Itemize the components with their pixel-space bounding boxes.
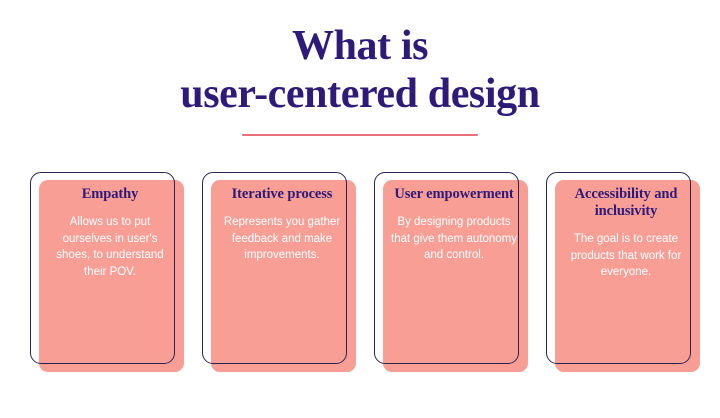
page-title-line-2: user-centered design bbox=[0, 70, 720, 118]
card-content: Empathy Allows us to put ourselves in us… bbox=[38, 172, 183, 364]
concept-card-row: Empathy Allows us to put ourselves in us… bbox=[0, 172, 720, 382]
card-body: Represents you gather feedback and make … bbox=[219, 214, 346, 264]
concept-card-accessibility-inclusivity[interactable]: Accessibility and inclusivity The goal i… bbox=[546, 172, 691, 372]
concept-card-user-empowerment[interactable]: User empowerment By designing products t… bbox=[374, 172, 519, 372]
card-body: By designing products that give them aut… bbox=[391, 214, 518, 264]
concept-card-empathy[interactable]: Empathy Allows us to put ourselves in us… bbox=[30, 172, 175, 372]
title-divider bbox=[242, 134, 478, 136]
card-content: User empowerment By designing products t… bbox=[382, 172, 527, 364]
card-heading: Iterative process bbox=[232, 186, 333, 203]
card-heading: User empowerment bbox=[394, 186, 513, 203]
slide-canvas: What is user-centered design Empathy All… bbox=[0, 0, 720, 418]
card-heading: Empathy bbox=[82, 186, 139, 203]
card-heading: Accessibility and inclusivity bbox=[563, 186, 690, 220]
page-title-line-1: What is bbox=[0, 22, 720, 70]
page-title: What is user-centered design bbox=[0, 22, 720, 118]
card-content: Accessibility and inclusivity The goal i… bbox=[554, 172, 699, 364]
card-body: The goal is to create products that work… bbox=[563, 231, 690, 281]
concept-card-iterative-process[interactable]: Iterative process Represents you gather … bbox=[202, 172, 347, 372]
card-content: Iterative process Represents you gather … bbox=[210, 172, 355, 364]
card-body: Allows us to put ourselves in user's sho… bbox=[47, 214, 174, 280]
